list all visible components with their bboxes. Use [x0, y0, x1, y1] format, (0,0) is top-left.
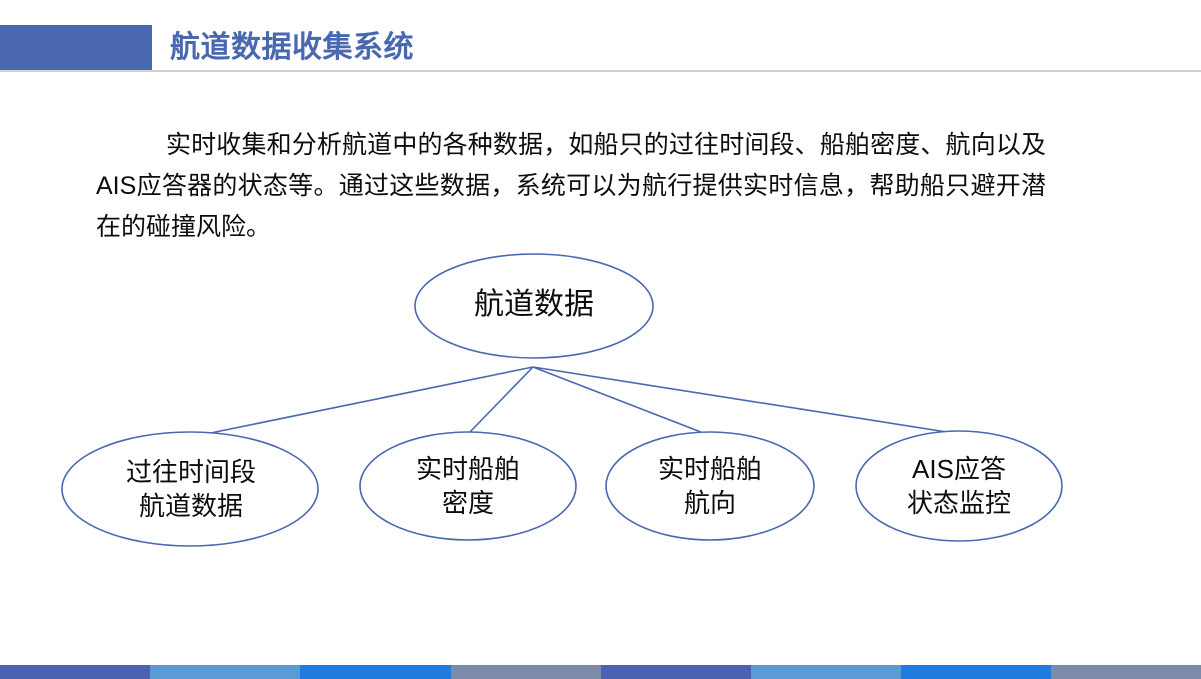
footer-segment	[1051, 665, 1201, 679]
diagram-nodes	[62, 254, 1062, 546]
footer-segment	[601, 665, 751, 679]
connector-root-to-child-0	[196, 367, 533, 436]
node-root-ellipse	[415, 254, 653, 358]
slide-canvas: 航道数据收集系统 实时收集和分析航道中的各种数据，如船只的过往时间段、船舶密度、…	[0, 0, 1201, 679]
node-child-1-label: 实时船舶 密度	[360, 452, 576, 520]
header-divider	[0, 70, 1201, 72]
channel-data-tree-diagram	[0, 0, 1201, 679]
node-child-2-label-line1: 实时船舶	[606, 452, 814, 486]
node-child-2-ellipse	[606, 432, 814, 540]
node-child-3-ellipse	[856, 431, 1062, 541]
header-accent-block	[0, 25, 152, 72]
node-child-0-label-line2: 航道数据	[62, 489, 320, 523]
node-child-0-ellipse	[62, 432, 318, 546]
node-child-0-label: 过往时间段 航道数据	[62, 455, 320, 523]
node-child-1-label-line1: 实时船舶	[360, 452, 576, 486]
node-child-1-ellipse	[360, 432, 576, 540]
page-title: 航道数据收集系统	[170, 27, 414, 69]
node-child-0-label-line1: 过往时间段	[62, 455, 320, 489]
node-child-3-label-line1: AIS应答	[856, 452, 1062, 486]
footer-segment	[300, 665, 450, 679]
node-child-2-label-line2: 航向	[606, 486, 814, 520]
node-root-label: 航道数据	[415, 286, 653, 324]
node-child-2-label: 实时船舶 航向	[606, 452, 814, 520]
connector-root-to-child-1	[468, 367, 533, 434]
body-paragraph: 实时收集和分析航道中的各种数据，如船只的过往时间段、船舶密度、航向以及AIS应答…	[96, 125, 1046, 248]
node-child-3-label: AIS应答 状态监控	[856, 452, 1062, 520]
connector-root-to-child-2	[533, 367, 706, 434]
node-child-3-label-line2: 状态监控	[856, 486, 1062, 520]
footer-segment	[0, 665, 150, 679]
footer-segment	[751, 665, 901, 679]
connector-root-to-child-3	[533, 367, 953, 433]
node-child-1-label-line2: 密度	[360, 486, 576, 520]
footer-segment	[901, 665, 1051, 679]
diagram-connectors	[196, 367, 953, 436]
footer-segment	[150, 665, 300, 679]
footer-decorative-bar	[0, 665, 1201, 679]
footer-segment	[451, 665, 601, 679]
